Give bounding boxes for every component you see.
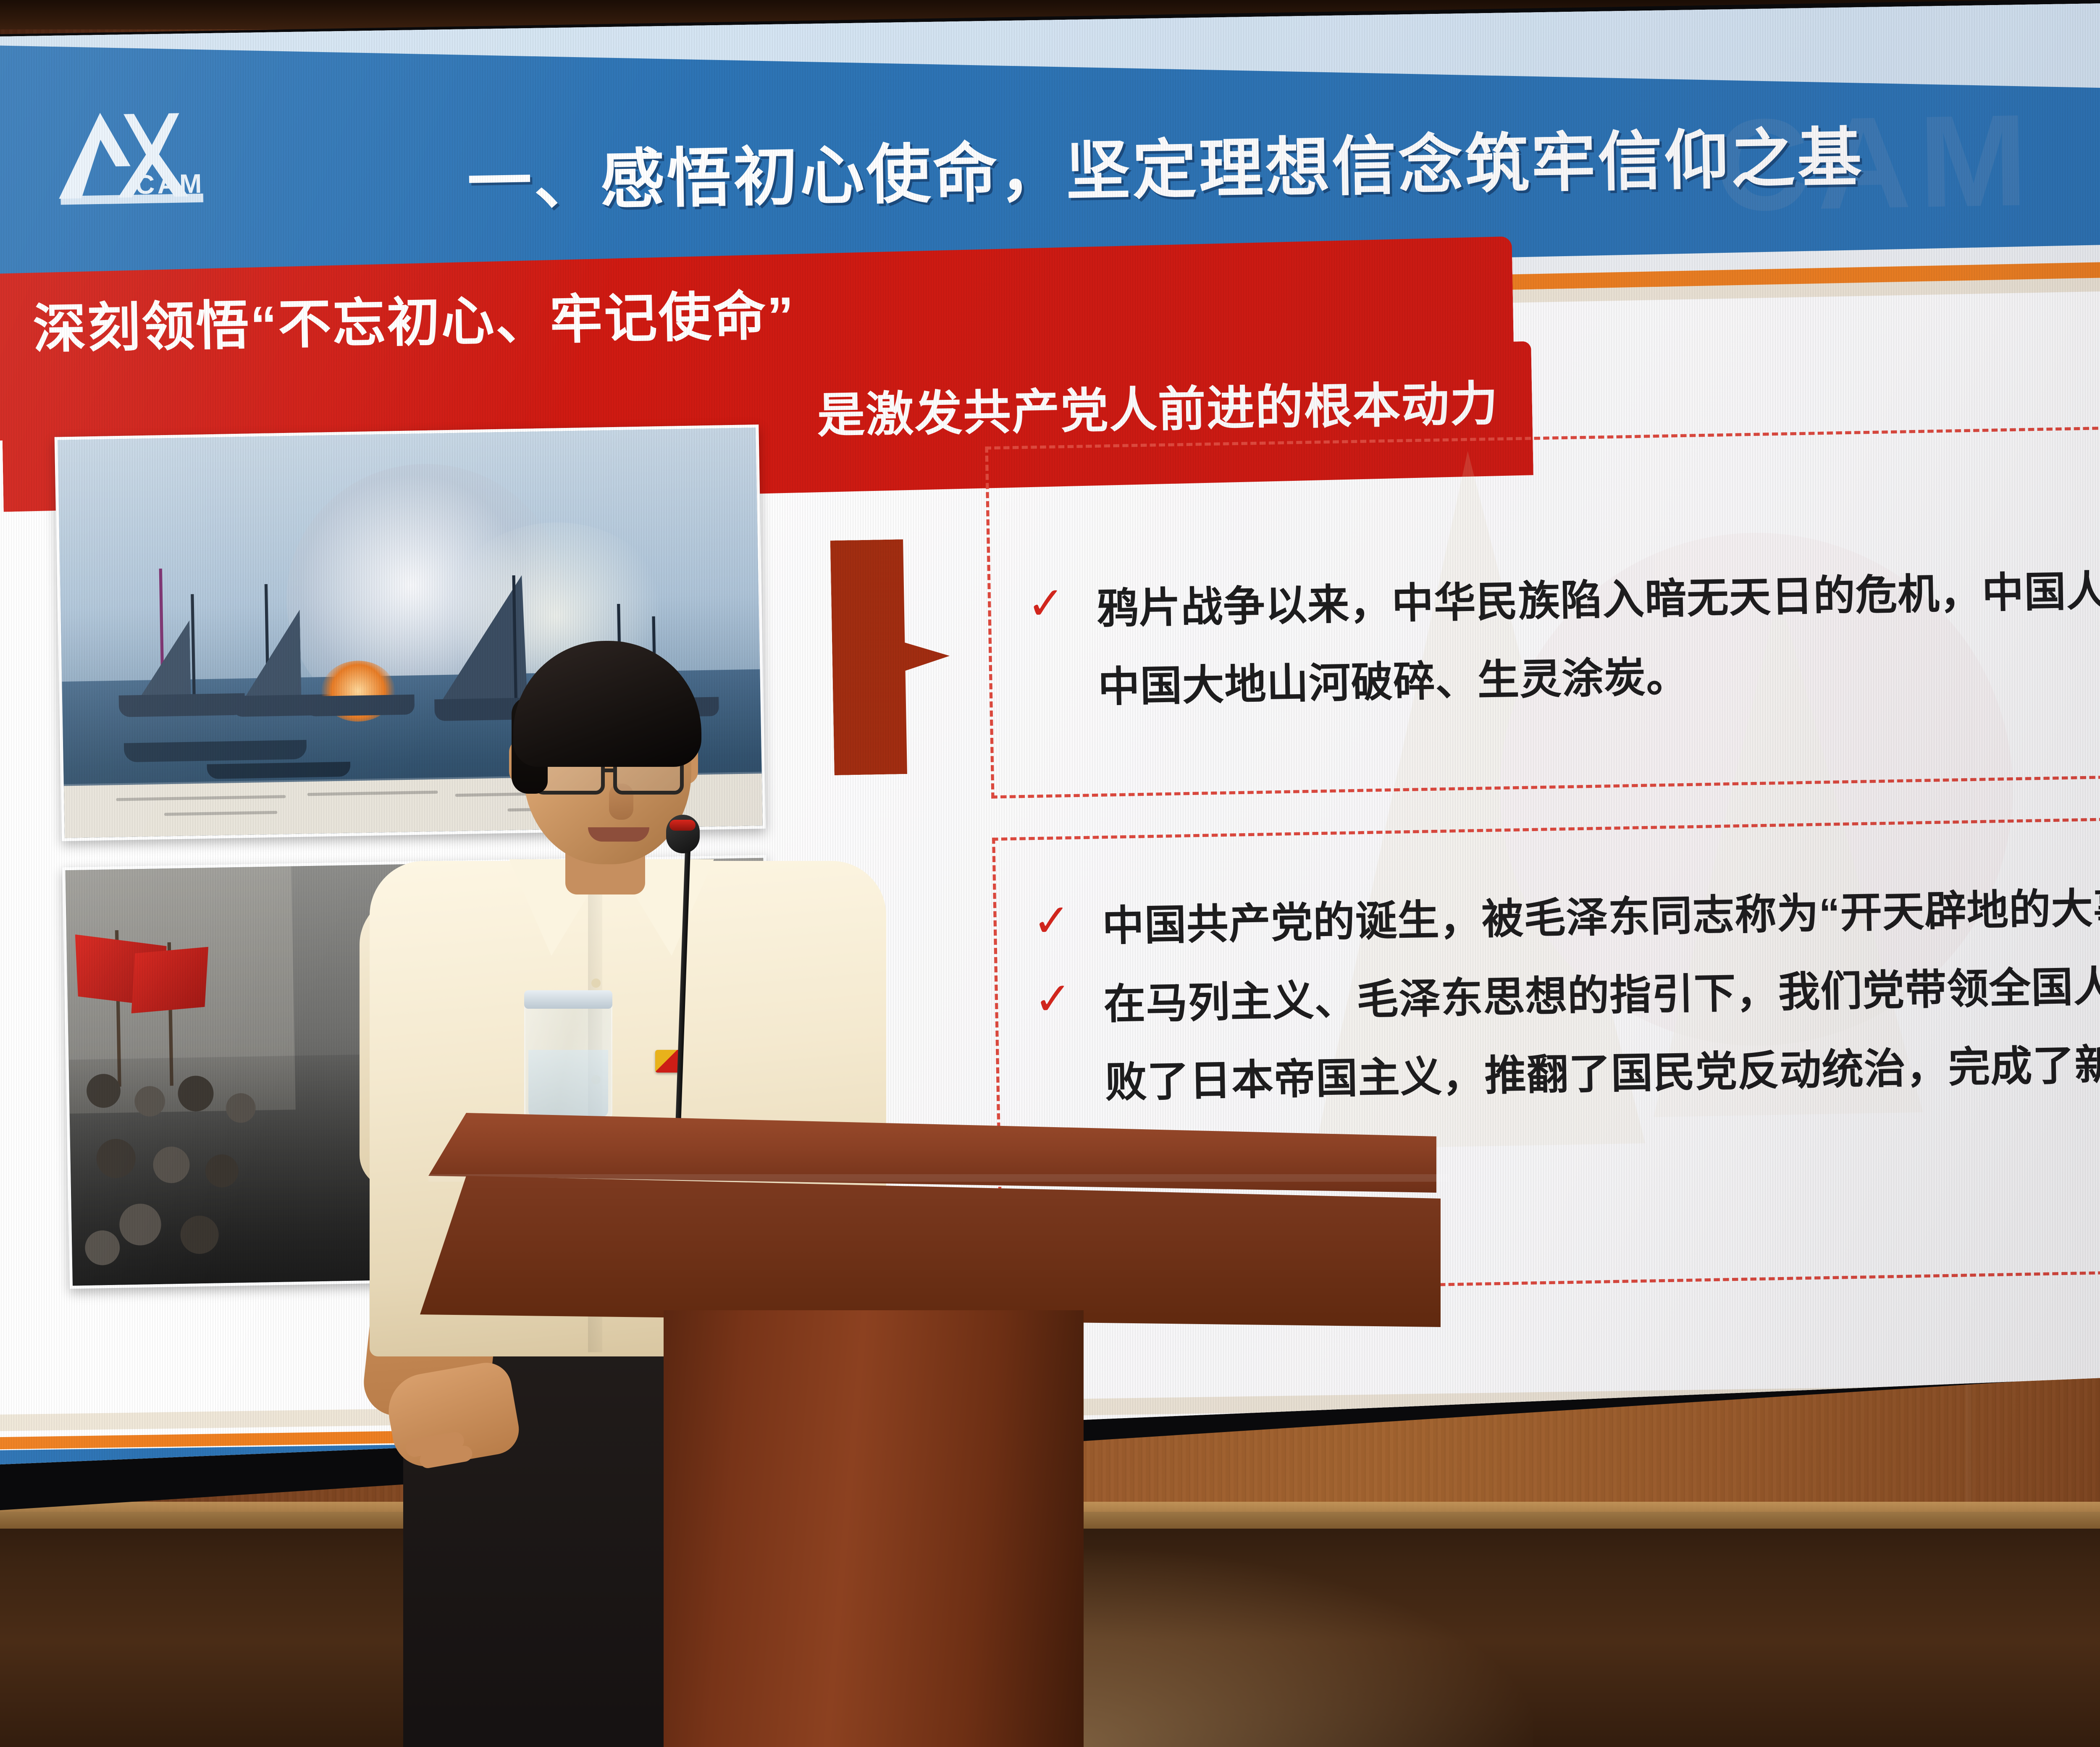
podium [428,1113,1436,1747]
eyeglasses-bridge [604,769,615,772]
content-line: 中国大地山河破碎、生灵涂炭。 [1097,643,1689,713]
hair [513,641,701,767]
presentation-scene: CAM CAM 一、感悟初心使命，坚定理想信念筑牢信仰之基 （一）深刻领悟“不忘… [0,0,2100,1747]
podium-column [664,1310,1084,1747]
logo-wordmark: CAM [135,168,205,200]
water-level [528,1050,608,1117]
microphone-indicator [669,820,696,831]
glass-lid [524,990,612,1009]
cam-logo: CAM [48,95,238,228]
shirt-button [591,978,601,988]
bullet-check-icon: ✓ [1034,972,1072,1026]
bullet-check-icon: ✓ [1026,577,1065,630]
mouth [588,827,649,842]
bullet-check-icon: ✓ [1032,894,1071,947]
podium-front-face [420,1176,1441,1327]
